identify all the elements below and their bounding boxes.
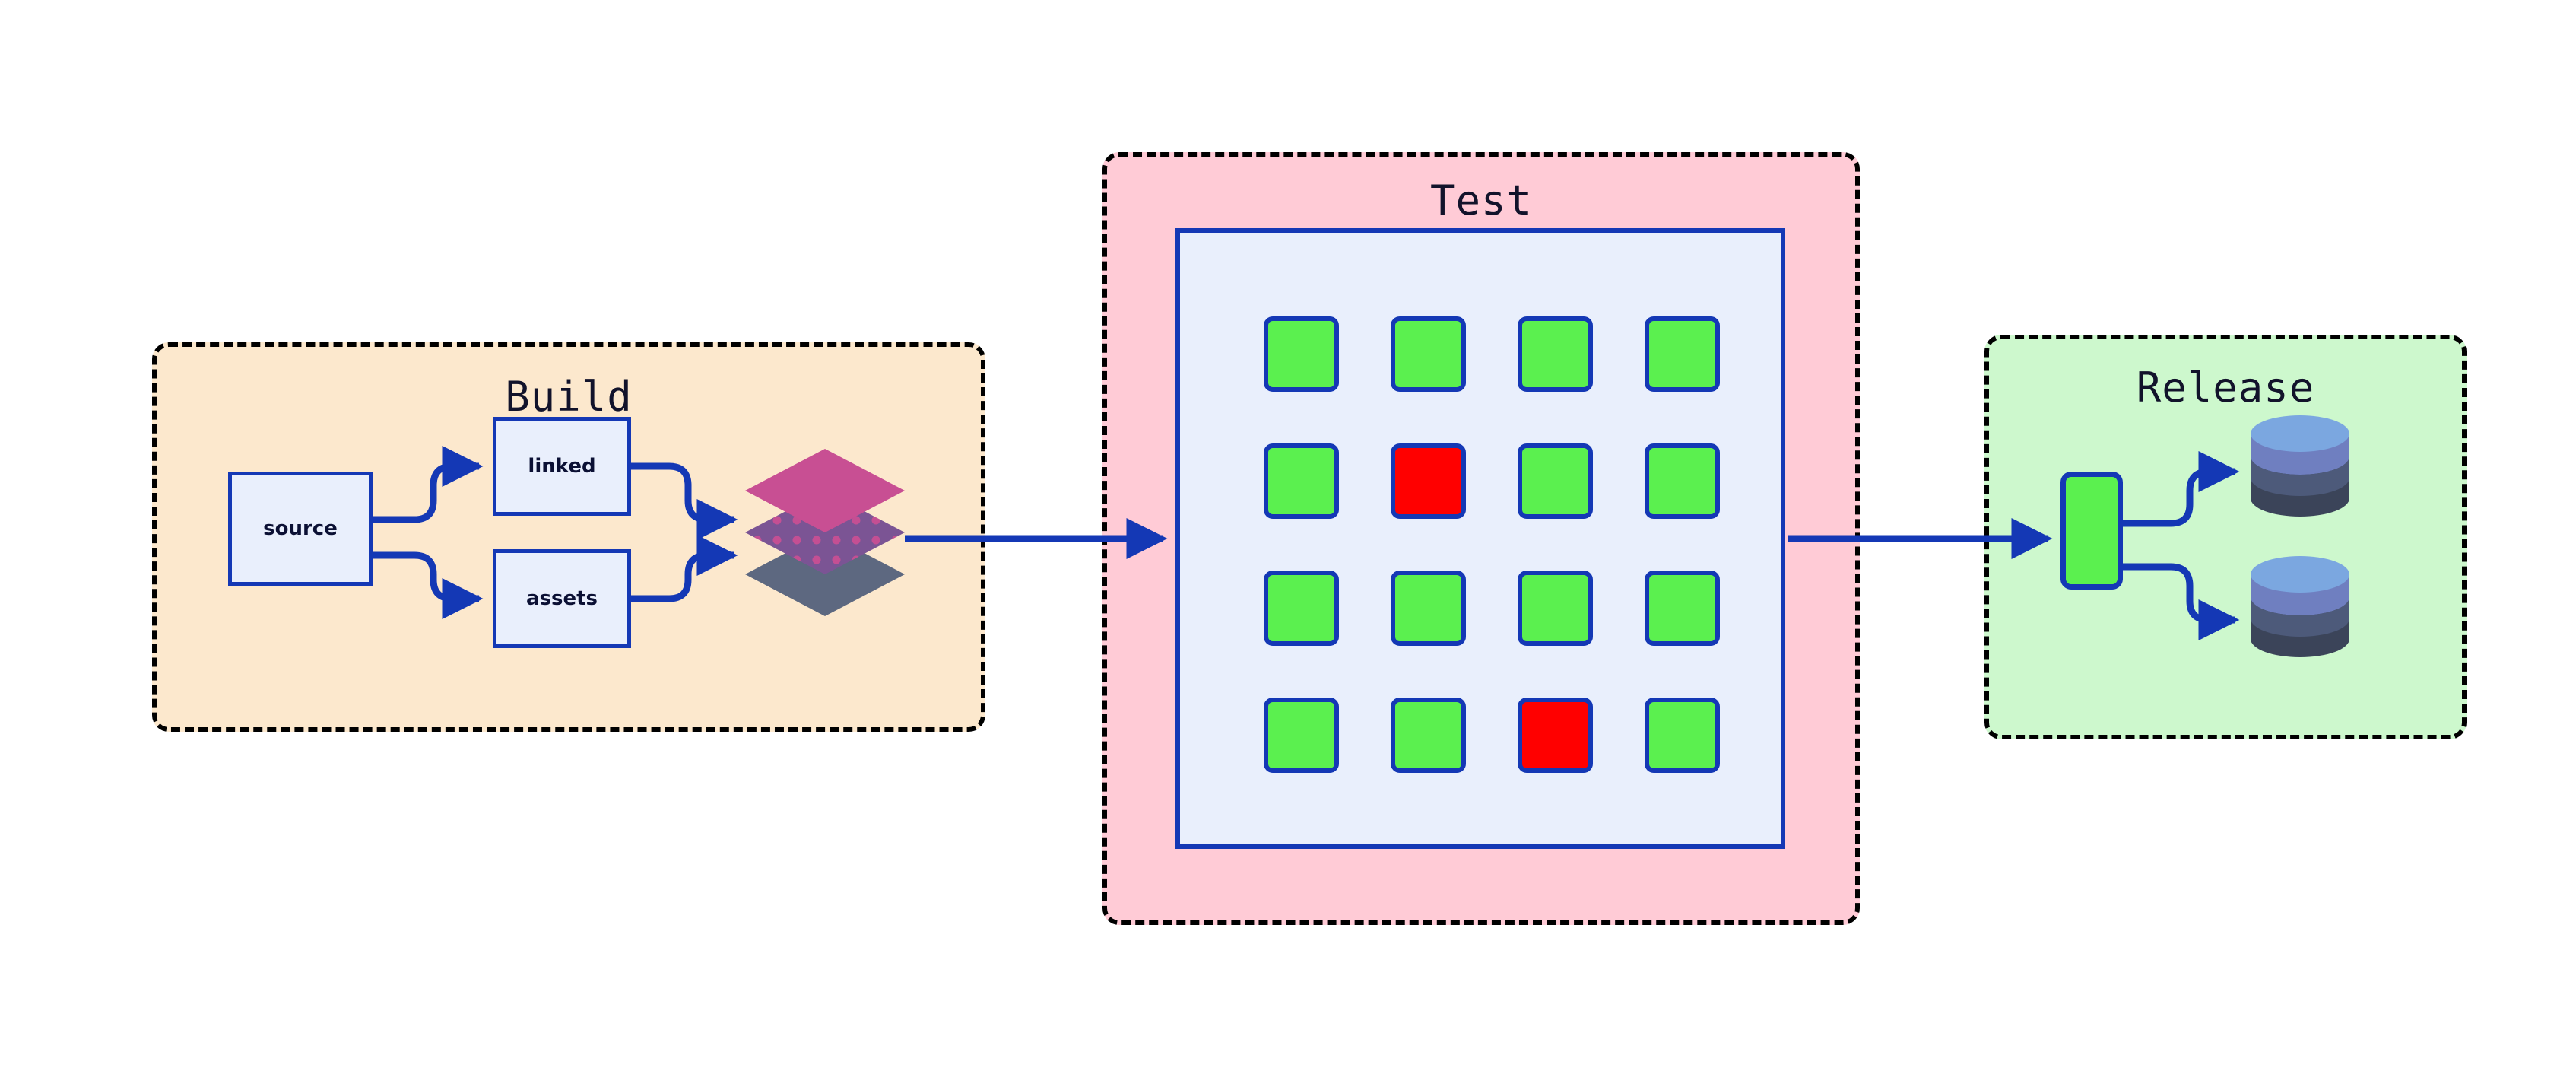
node-release-artifact[interactable] (2060, 472, 2123, 590)
stage-release-title: Release (1989, 364, 2462, 412)
node-source[interactable]: source (228, 472, 373, 586)
stage-test-title: Test (1107, 176, 1855, 224)
stage-release[interactable]: Release (1984, 335, 2467, 739)
test-cell-1-2-pass[interactable] (1391, 316, 1466, 392)
test-cell-2-2-fail[interactable] (1391, 443, 1466, 519)
node-linked-label: linked (528, 455, 595, 478)
test-cell-3-2-pass[interactable] (1391, 571, 1466, 646)
test-cell-3-1-pass[interactable] (1264, 571, 1339, 646)
test-cell-1-1-pass[interactable] (1264, 316, 1339, 392)
test-cell-4-3-fail[interactable] (1518, 698, 1593, 773)
test-cell-1-3-pass[interactable] (1518, 316, 1593, 392)
node-assets-label: assets (526, 587, 598, 610)
test-cell-1-4-pass[interactable] (1645, 316, 1720, 392)
test-cell-3-3-pass[interactable] (1518, 571, 1593, 646)
test-cell-2-3-pass[interactable] (1518, 443, 1593, 519)
test-results-panel[interactable] (1175, 228, 1785, 849)
node-assets[interactable]: assets (493, 549, 631, 648)
node-source-label: source (263, 517, 338, 540)
stage-build-title: Build (157, 373, 981, 421)
test-results-grid (1264, 316, 1720, 773)
test-cell-2-1-pass[interactable] (1264, 443, 1339, 519)
node-linked[interactable]: linked (493, 417, 631, 516)
test-cell-4-2-pass[interactable] (1391, 698, 1466, 773)
test-cell-4-4-pass[interactable] (1645, 698, 1720, 773)
test-cell-4-1-pass[interactable] (1264, 698, 1339, 773)
test-cell-3-4-pass[interactable] (1645, 571, 1720, 646)
diagram-canvas: Build source linked assets Test Release (0, 0, 2576, 1068)
test-cell-2-4-pass[interactable] (1645, 443, 1720, 519)
